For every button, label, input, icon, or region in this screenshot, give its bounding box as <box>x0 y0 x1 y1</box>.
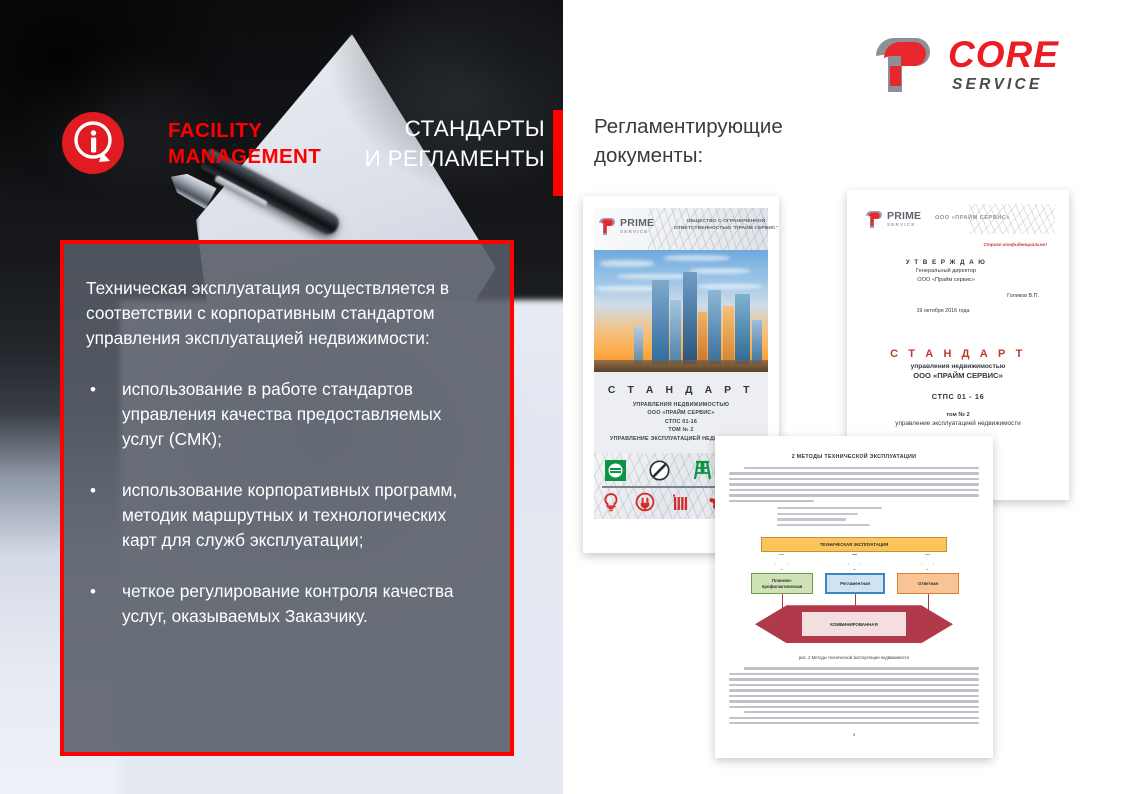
cloud <box>600 260 654 267</box>
text-line <box>729 678 979 680</box>
doc3-heading: 2 МЕТОДЫ ТЕХНИЧЕСКОЙ ЭКСПЛУАТАЦИИ <box>729 454 979 460</box>
prime-tagline: SERVICE <box>620 229 648 234</box>
text-line <box>729 494 979 496</box>
doc3-flowchart: ТЕХНИЧЕСКАЯ ЭКСПЛУАТАЦИЯ Планово-профила… <box>745 537 963 649</box>
content-box: Техническая эксплуатация осуществляется … <box>60 240 514 756</box>
bullet-item: • использование корпоративных программ, … <box>86 478 484 553</box>
doc1-skyline-photo <box>594 250 768 372</box>
prime-service-logo: PRIME SERVICE <box>864 210 932 232</box>
tower <box>752 320 762 364</box>
text-line <box>729 695 979 697</box>
tower <box>698 312 707 364</box>
tower <box>683 272 697 364</box>
text-line <box>729 706 979 708</box>
text-line <box>729 717 979 719</box>
doc1-subtitle-1: УПРАВЛЕНИЯ НЕДВИЖИМОСТЬЮ <box>600 401 762 409</box>
bullet-text: использование корпоративных программ, ме… <box>122 478 484 553</box>
bullet-text: четкое регулирование контроля качества у… <box>122 579 484 629</box>
page-title: СТАНДАРТЫ И РЕГЛАМЕНТЫ <box>330 114 545 174</box>
doc1-title: С Т А Н Д А Р Т <box>600 385 762 396</box>
doc2-org-line: ООО «ПРАЙМ СЕРВИС» <box>935 215 1010 221</box>
doc2-confidential-note: Строго конфиденциально! <box>861 242 1055 247</box>
list-line <box>777 513 858 515</box>
prime-wordmark: PRIME <box>887 210 921 222</box>
tower <box>723 306 734 364</box>
doc2-title-sub-1: управления недвижимостью <box>861 363 1055 370</box>
text-line <box>744 467 979 469</box>
text-line <box>729 684 979 686</box>
flowchart-top-box: ТЕХНИЧЕСКАЯ ЭКСПЛУАТАЦИЯ <box>761 537 947 552</box>
facility-management-label: FACILITY MANAGEMENT <box>168 118 321 170</box>
list-line <box>777 507 882 509</box>
tower <box>735 294 750 364</box>
bullet-marker: • <box>86 377 122 452</box>
radiator-icon <box>670 492 690 512</box>
text-line <box>744 711 979 713</box>
doc2-title-block: С Т А Н Д А Р Т управления недвижимостью… <box>861 348 1055 427</box>
doc2-approve-label: У Т В Е Р Ж Д А Ю <box>861 259 1031 266</box>
no-entry-icon <box>649 460 670 481</box>
flowchart-combined-label: КОМБИНИРОВАННАЯ <box>801 611 907 637</box>
header-accent-bar <box>553 110 563 196</box>
doc2-header: PRIME SERVICE ООО «ПРАЙМ СЕРВИС» <box>861 204 1055 238</box>
doc3-figure-caption: рис. 2 Методы технической эксплуатации н… <box>729 655 979 660</box>
prime-logo-mark-icon <box>597 217 616 236</box>
core-service-logo: CORE SERVICE <box>868 36 1080 98</box>
doc2-volume-sub: управление эксплуатацией недвижимости <box>861 420 1055 427</box>
flowchart-branch-2: Регламентная <box>825 573 885 594</box>
text-line <box>729 483 979 485</box>
flowchart-arrow <box>775 554 788 570</box>
text-line <box>729 489 979 491</box>
doc2-approve-line-2: ООО «Прайм сервис» <box>861 276 1031 284</box>
power-plug-icon <box>635 492 655 512</box>
doc3-bullet-list <box>777 507 979 526</box>
doc3-page-number: 4 <box>729 732 979 737</box>
core-tagline: SERVICE <box>952 76 1042 94</box>
doc2-approval-block: У Т В Е Р Ж Д А Ю Генеральный директор О… <box>861 259 1055 284</box>
core-wordmark: CORE <box>948 34 1059 76</box>
tower <box>652 280 669 364</box>
flowchart-branch-3: Ответная <box>897 573 959 594</box>
text-line <box>744 667 979 669</box>
core-logo-mark-icon <box>868 36 932 94</box>
documents-heading: Регламентирующие документы: <box>594 112 894 170</box>
right-panel: CORE SERVICE Регламентирующие документы:… <box>563 0 1123 794</box>
flowchart-arrow <box>848 554 861 570</box>
prime-logo-mark-icon <box>864 210 883 229</box>
text-line <box>729 478 979 480</box>
bullet-marker: • <box>86 478 122 553</box>
content-box-inner: Техническая эксплуатация осуществляется … <box>64 244 510 639</box>
tower <box>670 300 681 364</box>
facility-line-1: FACILITY <box>168 118 321 144</box>
doc3-body-paragraph <box>729 467 979 502</box>
page-title-line-2: И РЕГЛАМЕНТЫ <box>330 144 545 174</box>
ground-strip <box>594 360 768 372</box>
page-title-line-1: СТАНДАРТЫ <box>330 114 545 144</box>
info-circle-icon <box>62 112 124 174</box>
bullet-text: использование в работе стандартов управл… <box>122 377 484 452</box>
ladder-icon <box>692 460 713 481</box>
prime-tagline: SERVICE <box>887 222 915 227</box>
tower <box>708 290 721 364</box>
tower <box>634 326 643 364</box>
facility-line-2: MANAGEMENT <box>168 144 321 170</box>
text-line <box>729 500 814 502</box>
cloud <box>664 255 730 261</box>
doc2-approve-line-1: Генеральный директор <box>861 267 1031 275</box>
lightbulb-icon <box>602 492 620 512</box>
text-line <box>729 722 979 724</box>
doc2-date: 19 октября 2016 года <box>861 308 1055 314</box>
doc1-header: PRIME SERVICE ОБЩЕСТВО С ОГРАНИЧЕННОЙ ОТ… <box>594 208 768 250</box>
text-line <box>729 472 979 474</box>
bullet-marker: • <box>86 579 122 629</box>
doc1-subtitle-4: ТОМ № 2 <box>600 426 762 434</box>
bullet-item: • четкое регулирование контроля качества… <box>86 579 484 629</box>
cloud <box>690 268 750 274</box>
prime-service-logo: PRIME SERVICE <box>597 217 665 239</box>
doc1-org-line: ОБЩЕСТВО С ОГРАНИЧЕННОЙ ОТВЕТСТВЕННОСТЬЮ… <box>670 218 782 232</box>
text-line <box>729 689 979 691</box>
document-thumbnail-methods-page[interactable]: 2 МЕТОДЫ ТЕХНИЧЕСКОЙ ЭКСПЛУАТАЦИИ ТЕХНИЧ… <box>715 436 993 758</box>
doc1-subtitle-2: ООО «ПРАЙМ СЕРВИС» <box>600 409 762 417</box>
doc2-title: С Т А Н Д А Р Т <box>861 348 1055 360</box>
doc2-signatory: Голиков В.П. <box>861 293 1055 299</box>
text-line <box>729 700 979 702</box>
list-line <box>777 518 846 520</box>
prime-wordmark: PRIME <box>620 217 654 229</box>
intro-paragraph: Техническая эксплуатация осуществляется … <box>86 276 484 351</box>
doc2-volume: том № 2 <box>861 412 1055 418</box>
left-panel: FACILITY MANAGEMENT СТАНДАРТЫ И РЕГЛАМЕН… <box>0 0 563 794</box>
doc1-subtitle-3: СТПС 01-16 <box>600 418 762 426</box>
text-line <box>729 673 979 675</box>
flowchart-arrow <box>921 554 934 570</box>
doc2-title-sub-2: ООО «ПРАЙМ СЕРВИС» <box>861 371 1055 380</box>
list-line <box>777 524 870 526</box>
doc2-code: СТПС 01 - 16 <box>861 392 1055 401</box>
safety-sign-icon <box>605 460 626 481</box>
cloud <box>698 284 762 289</box>
bullet-item: • использование в работе стандартов упра… <box>86 377 484 452</box>
flowchart-branch-1: Планово-профилактическая <box>751 573 813 594</box>
doc3-body-paragraph-2 <box>729 667 979 724</box>
